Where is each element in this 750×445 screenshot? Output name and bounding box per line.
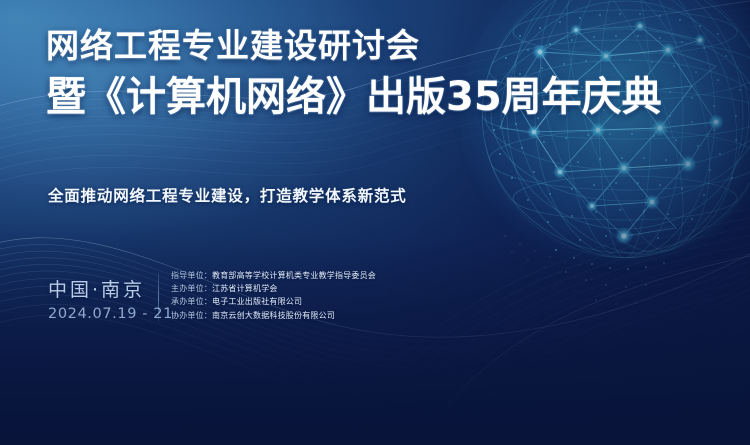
organizer-label: 承办单位： — [171, 297, 212, 306]
event-location-block: 中国·南京 2024.07.19 - 21 — [48, 278, 173, 324]
organizer-label: 指导单位： — [171, 271, 212, 280]
poster-content: 网络工程专业建设研讨会 暨《计算机网络》出版35周年庆典 全面推动网络工程专业建… — [0, 0, 750, 445]
conference-poster: 网络工程专业建设研讨会 暨《计算机网络》出版35周年庆典 全面推动网络工程专业建… — [0, 0, 750, 445]
organizer-value: 南京云创大数据科技股份有限公司 — [212, 311, 335, 320]
poster-title: 网络工程专业建设研讨会 暨《计算机网络》出版35周年庆典 — [46, 26, 662, 122]
organizer-label: 主办单位： — [171, 284, 212, 293]
organizer-value: 电子工业出版社有限公司 — [212, 297, 302, 306]
organizer-label: 协办单位： — [171, 311, 212, 320]
organizer-row: 指导单位：教育部高等学校计算机类专业教学指导委员会 — [171, 269, 376, 282]
organizer-value: 江苏省计算机学会 — [212, 284, 278, 293]
organizer-value: 教育部高等学校计算机类专业教学指导委员会 — [212, 271, 376, 280]
vertical-divider — [158, 272, 159, 322]
title-line-1: 网络工程专业建设研讨会 — [46, 26, 662, 66]
organizer-row: 协办单位：南京云创大数据科技股份有限公司 — [171, 309, 376, 322]
event-city: 中国·南京 — [48, 278, 173, 302]
event-date: 2024.07.19 - 21 — [48, 304, 173, 324]
organizer-row: 承办单位：电子工业出版社有限公司 — [171, 295, 376, 308]
organizer-list: 指导单位：教育部高等学校计算机类专业教学指导委员会 主办单位：江苏省计算机学会 … — [171, 269, 376, 322]
organizer-row: 主办单位：江苏省计算机学会 — [171, 282, 376, 295]
poster-subtitle: 全面推动网络工程专业建设，打造教学体系新范式 — [48, 184, 407, 206]
title-line-2: 暨《计算机网络》出版35周年庆典 — [46, 72, 662, 122]
